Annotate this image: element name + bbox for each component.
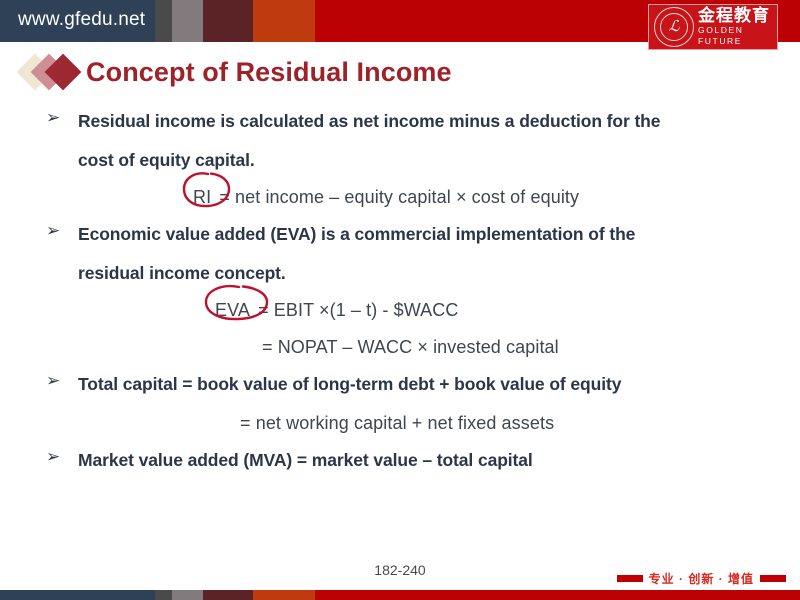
page-title: Concept of Residual Income	[86, 57, 452, 88]
formula-eva-rest: = EBIT ×(1 – t) ‐ $WACC	[258, 300, 458, 320]
bullet-item-1: ➢ Residual income is calculated as net i…	[0, 103, 800, 140]
bullet-3-total-capital: Total capital = book value of long-term …	[78, 366, 621, 403]
bullet-4-mva: Market value added (MVA) = market value …	[78, 442, 533, 479]
formula-ri-circled-term: RI	[193, 187, 211, 207]
logo-text-block: 金程教育 GOLDEN FUTURE	[698, 7, 777, 48]
slogan-text: 专业 · 创新 · 增值	[649, 570, 754, 587]
annotation-circle-eva: EVA	[212, 292, 253, 329]
diamond-ornament-icon	[22, 54, 84, 90]
bullet-1-line-1: Residual income is calculated as net inc…	[78, 103, 660, 140]
bullet-arrow-icon: ➢	[46, 366, 60, 396]
formula-ri-rest: = net income – equity capital × cost of …	[219, 187, 579, 207]
formula-total-capital: = net working capital + net fixed assets	[0, 405, 800, 442]
footer-slogan: 专业 · 创新 · 增值	[617, 570, 786, 587]
slide-title-row: Concept of Residual Income	[22, 52, 452, 92]
bullet-1-line-2: cost of equity capital.	[0, 142, 800, 179]
header-segment-maroon	[203, 0, 253, 42]
bullet-item-4: ➢ Market value added (MVA) = market valu…	[0, 442, 800, 479]
logo-name-cn: 金程教育	[698, 7, 777, 25]
slogan-dash-left-icon	[617, 575, 643, 582]
bullet-arrow-icon: ➢	[46, 442, 60, 472]
footer-segment-dark-gray	[155, 590, 172, 600]
logo-seal-glyph: ℒ	[669, 20, 680, 35]
footer-segment-orange	[253, 590, 315, 600]
formula-residual-income: RI = net income – equity capital × cost …	[0, 179, 800, 216]
slide-content: ➢ Residual income is calculated as net i…	[0, 103, 800, 481]
bullet-arrow-icon: ➢	[46, 216, 60, 246]
header-segment-dark-gray	[155, 0, 172, 42]
bullet-2-line-2: residual income concept.	[0, 255, 800, 292]
brand-logo: ℒ 金程教育 GOLDEN FUTURE	[648, 4, 778, 50]
formula-eva-circled-term: EVA	[215, 300, 250, 320]
logo-seal-icon: ℒ	[654, 7, 694, 47]
header-segment-orange	[253, 0, 315, 42]
annotation-circle-ri: RI	[190, 179, 214, 216]
logo-name-en: GOLDEN FUTURE	[698, 25, 777, 47]
bullet-item-2: ➢ Economic value added (EVA) is a commer…	[0, 216, 800, 253]
bullet-2-line-1: Economic value added (EVA) is a commerci…	[78, 216, 635, 253]
footer-segment-maroon	[203, 590, 253, 600]
formula-eva: EVA = EBIT ×(1 – t) ‐ $WACC	[0, 292, 800, 329]
header-segment-gray	[172, 0, 203, 42]
footer-segment-navy	[0, 590, 155, 600]
bullet-arrow-icon: ➢	[46, 103, 60, 133]
slogan-dash-right-icon	[760, 575, 786, 582]
site-url-label: www.gfedu.net	[18, 9, 145, 31]
formula-nopat: = NOPAT – WACC × invested capital	[0, 329, 800, 366]
footer-segment-gray	[172, 590, 203, 600]
bullet-item-3: ➢ Total capital = book value of long-ter…	[0, 366, 800, 403]
footer-segment-red	[315, 590, 800, 600]
footer-bar	[0, 590, 800, 600]
